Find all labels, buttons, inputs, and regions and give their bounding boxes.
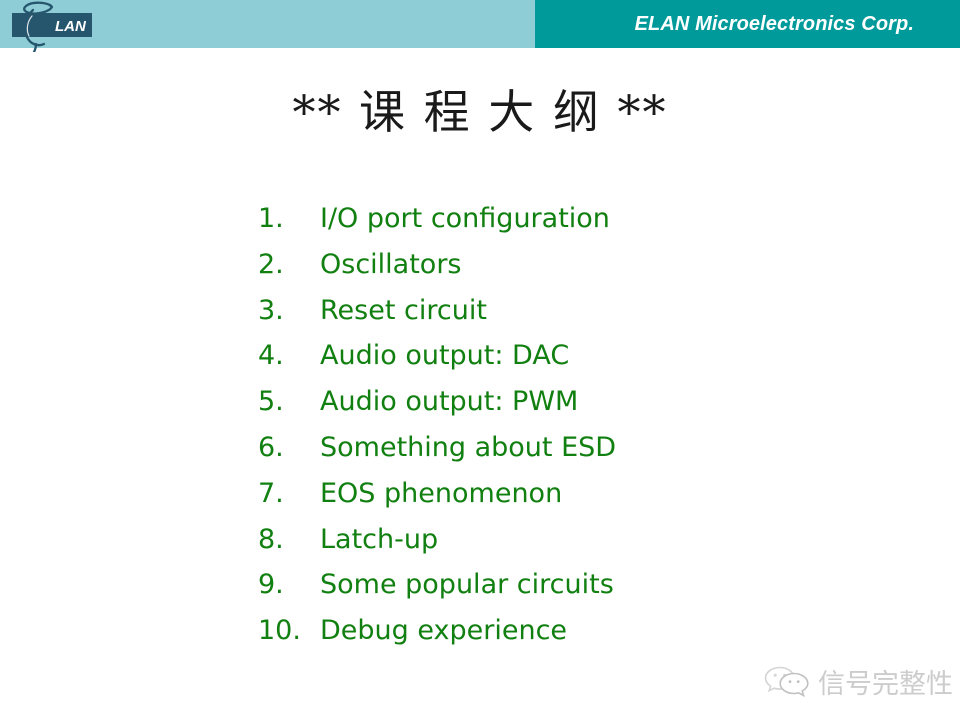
page-title: ** 课 程 大 纲 ** xyxy=(0,76,960,142)
header-bar: ELAN Microelectronics Corp. xyxy=(0,0,960,48)
company-title: ELAN Microelectronics Corp. xyxy=(635,0,914,48)
watermark-label: 信号完整性 xyxy=(818,662,953,701)
list-item: 3. Reset circuit xyxy=(258,288,858,334)
list-item-number: 2. xyxy=(258,242,320,288)
list-item: 1. I/O port configuration xyxy=(258,196,858,242)
list-item-label: EOS phenomenon xyxy=(320,471,858,517)
list-item-label: Something about ESD xyxy=(320,425,858,471)
list-item-number: 6. xyxy=(258,425,320,471)
list-item: 2. Oscillators xyxy=(258,242,858,288)
list-item-label: Debug experience xyxy=(320,608,858,654)
list-item-number: 9. xyxy=(258,562,320,608)
list-item-label: Latch-up xyxy=(320,517,858,563)
list-item-number: 3. xyxy=(258,288,320,334)
list-item: 6. Something about ESD xyxy=(258,425,858,471)
list-item-number: 7. xyxy=(258,471,320,517)
elan-logo: LAN xyxy=(6,0,98,52)
list-item-label: Audio output: DAC xyxy=(320,333,858,379)
watermark: 信号完整性 xyxy=(762,658,952,704)
agenda-list: 1. I/O port configuration 2. Oscillators… xyxy=(258,196,858,654)
list-item-number: 5. xyxy=(258,379,320,425)
list-item: 7. EOS phenomenon xyxy=(258,471,858,517)
list-item-number: 1. xyxy=(258,196,320,242)
list-item-label: I/O port configuration xyxy=(320,196,858,242)
list-item-number: 4. xyxy=(258,333,320,379)
list-item-label: Audio output: PWM xyxy=(320,379,858,425)
logo-wordmark: LAN xyxy=(55,18,87,35)
list-item-label: Some popular circuits xyxy=(320,562,858,608)
list-item-label: Oscillators xyxy=(320,242,858,288)
wechat-icon xyxy=(762,661,816,701)
list-item: 10. Debug experience xyxy=(258,608,858,654)
list-item: 5. Audio output: PWM xyxy=(258,379,858,425)
list-item: 8. Latch-up xyxy=(258,517,858,563)
list-item: 9. Some popular circuits xyxy=(258,562,858,608)
list-item-label: Reset circuit xyxy=(320,288,858,334)
list-item-number: 10. xyxy=(258,608,320,654)
list-item-number: 8. xyxy=(258,517,320,563)
list-item: 4. Audio output: DAC xyxy=(258,333,858,379)
